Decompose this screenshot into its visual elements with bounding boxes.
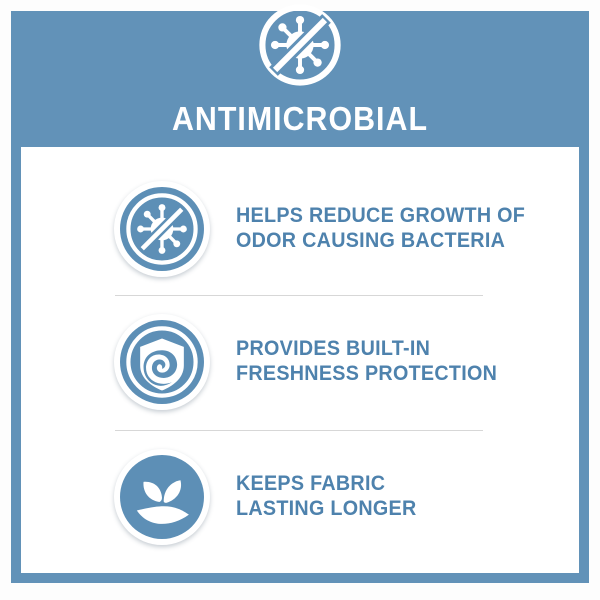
poster-header: ANTIMICROBIAL	[11, 11, 589, 147]
page-title: ANTIMICROBIAL	[34, 102, 566, 135]
feature-text: HELPS REDUCE GROWTH OF ODOR CAUSING BACT…	[236, 204, 525, 254]
feature-text: PROVIDES BUILT-IN FRESHNESS PROTECTION	[236, 337, 497, 387]
list-item: KEEPS FABRIC LASTING LONGER	[21, 437, 579, 557]
leaf-sprout-icon	[120, 455, 204, 539]
feature-badge	[114, 449, 210, 545]
list-item: PROVIDES BUILT-IN FRESHNESS PROTECTION	[21, 302, 579, 422]
feature-badge	[114, 314, 210, 410]
feature-text: KEEPS FABRIC LASTING LONGER	[236, 472, 417, 522]
features-panel: HELPS REDUCE GROWTH OF ODOR CAUSING BACT…	[21, 147, 579, 573]
row-divider	[115, 430, 483, 431]
row-divider	[115, 295, 483, 296]
feature-badge	[114, 181, 210, 277]
features-list: HELPS REDUCE GROWTH OF ODOR CAUSING BACT…	[21, 147, 579, 573]
no-germ-icon	[253, 0, 347, 92]
antimicrobial-infographic: ANTIMICROBIAL	[0, 0, 600, 600]
shield-freshness-icon	[120, 320, 204, 404]
no-germ-icon	[120, 187, 204, 271]
list-item: HELPS REDUCE GROWTH OF ODOR CAUSING BACT…	[21, 169, 579, 289]
